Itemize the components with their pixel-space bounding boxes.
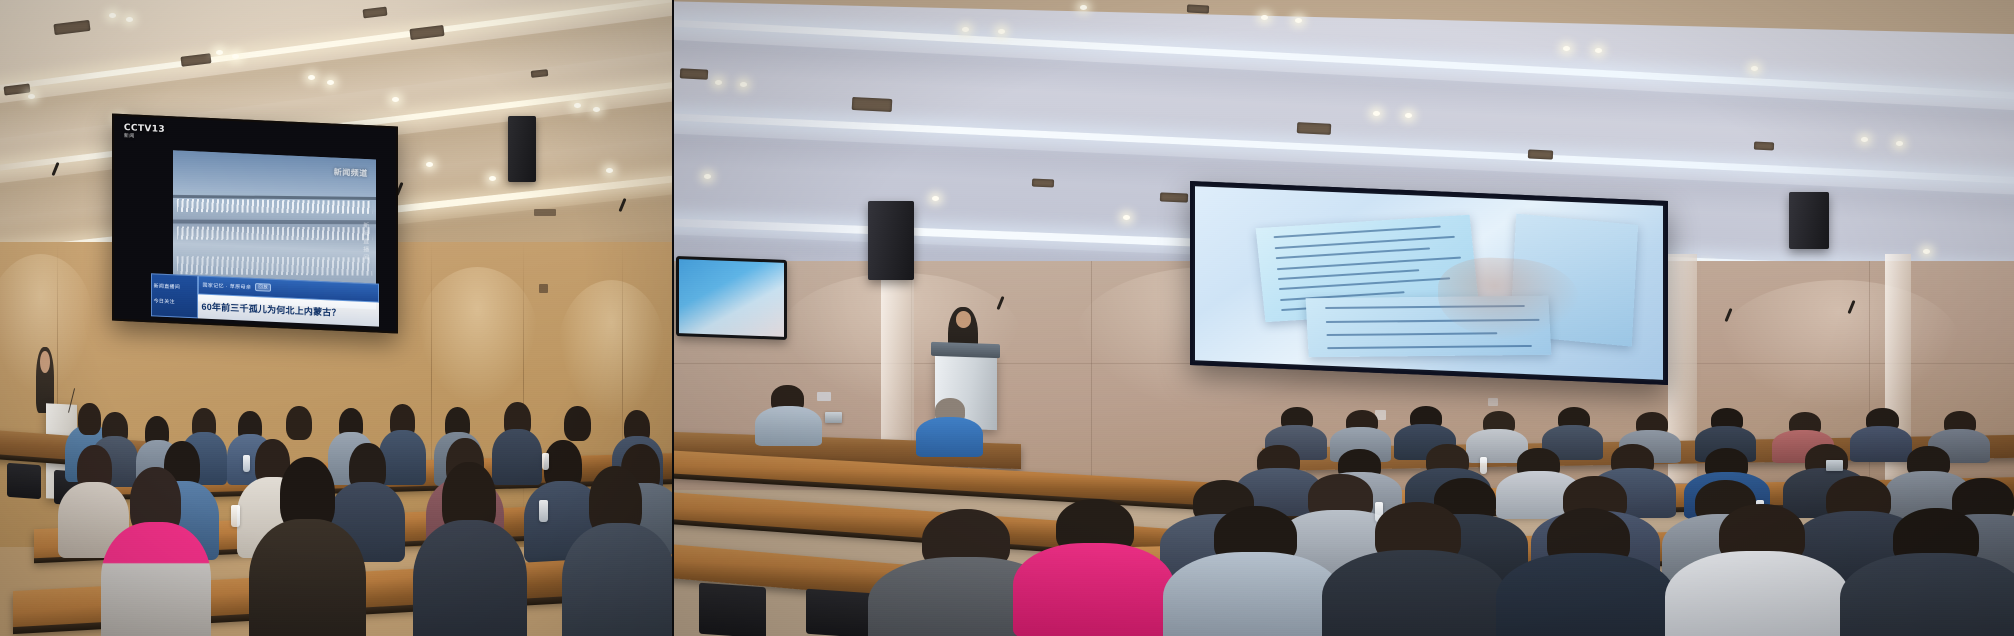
attendee-body: [1163, 552, 1343, 636]
ceiling-vent: [1528, 149, 1553, 159]
podium-top-surface: [931, 342, 1000, 358]
wall-light-pool: [1719, 280, 1961, 407]
handwriting-line: [1327, 332, 1497, 336]
downlight: [606, 168, 613, 173]
downlight: [1123, 215, 1130, 220]
downlight: [489, 176, 496, 181]
wall-light-pool: [417, 267, 538, 407]
ticker-category-line1: 新闻直播间: [153, 284, 195, 291]
broadcast-bird-flock: [176, 256, 371, 275]
attendee-body: [492, 429, 542, 485]
ceiling-vent: [1160, 193, 1188, 203]
attendee-body: [1665, 551, 1850, 636]
attendee-body: [916, 417, 983, 456]
downlight: [1080, 5, 1087, 10]
downlight: [1373, 111, 1380, 116]
broadcast-bird-flock: [177, 227, 372, 241]
water-bottle[interactable]: [231, 505, 240, 527]
wall-control-plate[interactable]: [539, 284, 548, 293]
right-projection-screen: [1190, 181, 1668, 385]
wall-control-plate[interactable]: [1488, 398, 1498, 406]
seat-back: [806, 589, 873, 636]
laptop[interactable]: [825, 412, 842, 423]
downlight: [308, 75, 315, 80]
hanging-speaker-cabinet: [868, 201, 914, 280]
seat-back: [7, 463, 41, 500]
panel-left-lecture-hall: CCTV13 新闻 新闻频道 新闻直播间 新闻直播间 今日关注: [0, 0, 672, 636]
downlight: [232, 54, 239, 59]
confidence-monitor: [676, 256, 787, 339]
handwriting-line: [1280, 277, 1451, 290]
attendee-body: [1496, 553, 1676, 636]
panel-divider: [672, 0, 674, 636]
handwriting-line: [1277, 256, 1461, 270]
water-bottle[interactable]: [542, 453, 549, 470]
confidence-monitor-screen: [679, 259, 784, 336]
attendee-body: [101, 522, 211, 636]
attendee-body: [755, 406, 822, 447]
ceiling-vent: [680, 68, 708, 79]
wall-speaker-cabinet: [508, 116, 536, 182]
laptop[interactable]: [1826, 460, 1843, 471]
ticker-body: 国家记忆 · 草原母亲 回放 60年前三千孤儿为何北上内蒙古？: [198, 275, 378, 326]
panel-right-lecture-hall: [672, 0, 2014, 636]
downlight: [1896, 141, 1903, 146]
water-bottle[interactable]: [243, 455, 250, 472]
attendee-body-pink-jacket: [1013, 543, 1174, 636]
broadcast-bird-flock: [177, 199, 372, 215]
downlight: [426, 162, 433, 167]
attendee-body: [1840, 553, 2014, 636]
handwriting-line: [1328, 345, 1532, 349]
attendee-body: [1322, 550, 1507, 636]
downlight: [1405, 113, 1412, 118]
video-wall-surface: CCTV13 新闻 新闻频道 新闻直播间 新闻直播间 今日关注: [114, 115, 396, 330]
wall-control-plate[interactable]: [534, 209, 556, 216]
ceiling-vent: [1187, 5, 1209, 14]
water-bottle[interactable]: [539, 500, 548, 522]
ceiling-vent: [1031, 179, 1053, 188]
hanging-speaker-cabinet: [1789, 192, 1829, 249]
attendee-head: [78, 403, 101, 435]
handwriting-line: [1274, 226, 1441, 239]
downlight: [1563, 46, 1570, 51]
attendee-body: [1850, 426, 1912, 462]
ticker-topic: 国家记忆 · 草原母亲: [202, 281, 251, 290]
attendee-body: [249, 519, 366, 636]
wall-light-pool: [558, 280, 666, 420]
downlight: [327, 80, 334, 85]
ceiling-vent: [1753, 142, 1773, 151]
seat-back: [699, 583, 766, 636]
broadcast-vertical-caption: 新闻直播间: [360, 222, 369, 262]
left-video-wall: CCTV13 新闻 新闻频道 新闻直播间 新闻直播间 今日关注: [112, 113, 398, 333]
handwriting-line: [1279, 269, 1420, 280]
projection-slide-surface: [1195, 186, 1663, 380]
photo-composite: CCTV13 新闻 新闻频道 新闻直播间 新闻直播间 今日关注: [0, 0, 2014, 636]
ticker-category-block: 新闻直播间 今日关注: [150, 273, 198, 318]
ticker-replay-pill: 回放: [255, 283, 271, 292]
water-bottle[interactable]: [1480, 457, 1487, 474]
broadcast-shoreline: [173, 219, 376, 224]
attendee-body: [562, 523, 672, 636]
cctv-logo-icon: CCTV13 新闻: [123, 124, 164, 141]
downlight: [1295, 18, 1302, 23]
cctv-channel-sub: 新闻: [123, 133, 164, 140]
downlight: [126, 17, 133, 22]
broadcast-watermark: 新闻频道: [333, 167, 367, 180]
attendee-body: [379, 430, 426, 485]
ticker-category-line2: 今日关注: [153, 299, 195, 306]
downlight: [962, 27, 969, 32]
attendee-body: [413, 520, 527, 636]
ceiling-vent: [1297, 122, 1332, 135]
wall-control-plate[interactable]: [817, 392, 831, 401]
downlight: [574, 103, 581, 108]
wall-panel-seam: [1091, 261, 1092, 477]
handwriting-line: [1276, 247, 1430, 259]
cctv-channel-number: 13: [151, 124, 164, 135]
ceiling-vent: [851, 97, 892, 112]
downlight: [593, 107, 600, 112]
